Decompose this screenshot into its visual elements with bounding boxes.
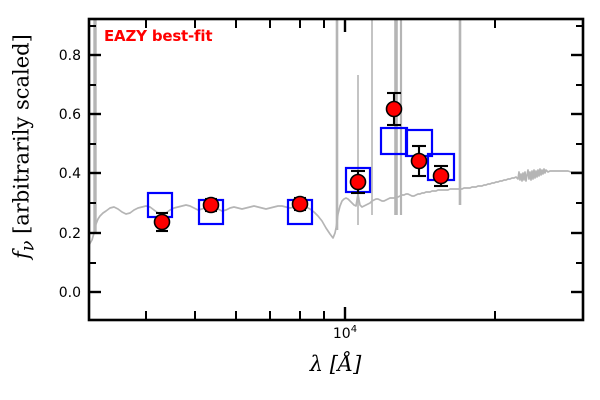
observed-point — [387, 102, 402, 117]
observed-point — [434, 169, 449, 184]
eazy-best-fit-annotation: EAZY best-fit — [104, 27, 212, 45]
x-axis-label-rest: [Å] — [323, 352, 361, 376]
x-axis-label: λ [Å] — [88, 352, 583, 376]
y-axis-label: fν [arbitrarily scaled] — [9, 0, 38, 307]
observed-point — [351, 175, 366, 190]
y-axis-label-rest: [arbitrarily scaled] — [9, 34, 33, 240]
model-square — [381, 128, 407, 154]
observed-point — [293, 197, 308, 212]
observed-point — [204, 198, 219, 213]
observed-point — [412, 154, 427, 169]
y-tick-label: 0.0 — [59, 285, 81, 301]
y-axis-label-symbol: f — [9, 251, 33, 259]
observed-point — [155, 215, 170, 230]
x-tick-label-10e4: 104 — [333, 324, 357, 342]
y-tick-label: 0.6 — [59, 107, 81, 123]
sed-plot: 0.0 0.2 0.4 0.6 0.8 104 — [0, 0, 600, 400]
model-spectrum — [89, 19, 583, 245]
x-tick-labels: 104 — [333, 324, 357, 342]
x-axis-label-symbol: λ — [310, 352, 323, 376]
y-tick-label: 0.2 — [59, 226, 81, 242]
y-tick-label: 0.4 — [59, 166, 81, 182]
y-tick-label: 0.8 — [59, 48, 81, 64]
y-tick-labels: 0.0 0.2 0.4 0.6 0.8 — [59, 48, 81, 301]
figure-canvas: 0.0 0.2 0.4 0.6 0.8 104 fν [arbitrarily … — [0, 0, 600, 400]
y-axis-label-sub: ν — [19, 241, 39, 252]
